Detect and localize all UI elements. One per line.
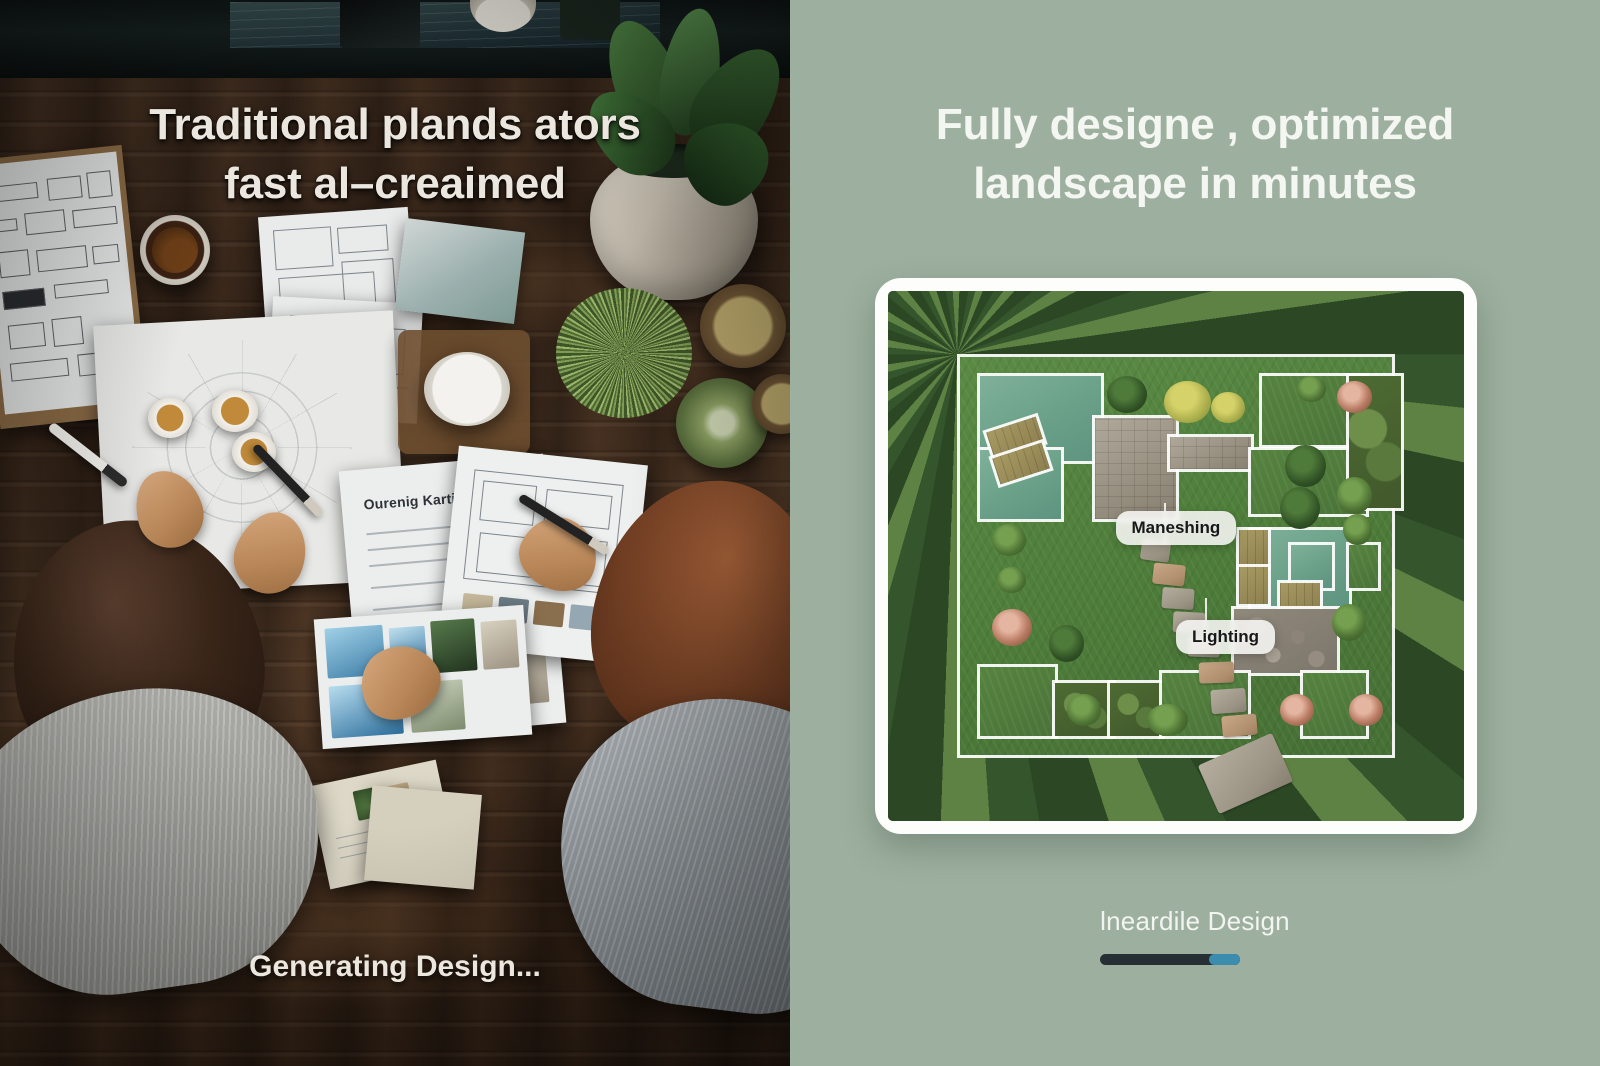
stepping-stone <box>1152 562 1186 586</box>
spec-box <box>24 209 66 235</box>
zone-deck[interactable] <box>1280 583 1320 610</box>
pin-maneshing[interactable]: Maneshing <box>1116 511 1237 545</box>
sketch-card <box>364 785 482 889</box>
stepping-stone <box>1199 661 1234 683</box>
design-name-label: Ɩneardile Design <box>790 906 1600 937</box>
right-headline: Fully designe , optimized landscape in m… <box>790 96 1600 213</box>
pin-lighting[interactable]: Lighting <box>1176 620 1275 654</box>
zone-bottom-left-lawn[interactable] <box>980 667 1055 736</box>
left-headline-line1: Traditional plands ators <box>149 100 641 149</box>
shrub <box>1147 704 1187 736</box>
zone-deck[interactable] <box>1239 530 1268 567</box>
left-headline: Traditional plands ators fast al–creaime… <box>0 96 790 213</box>
progress-bar-track[interactable] <box>1100 954 1240 965</box>
spec-box <box>0 218 18 232</box>
moodboard-photo <box>430 618 478 673</box>
right-headline-line2: landscape in minutes <box>973 159 1416 208</box>
dried-plant <box>700 284 786 368</box>
right-headline-line1: Fully designe , optimized <box>936 100 1454 149</box>
landscape-plan-card[interactable]: Maneshing Lighting <box>875 278 1477 834</box>
zone-structure-inner[interactable] <box>1291 545 1331 587</box>
specimen-tree <box>1285 445 1325 487</box>
floorplan-room <box>337 224 389 253</box>
flower-bed <box>1349 694 1384 726</box>
stepping-stone <box>1161 587 1194 610</box>
pin-maneshing-label: Maneshing <box>1132 518 1221 538</box>
stepping-stone <box>1210 687 1246 713</box>
ornamental-shrub <box>1164 381 1210 423</box>
shrub <box>1337 477 1372 514</box>
sample-dish <box>212 390 258 432</box>
progress-bar-fill <box>1209 954 1240 965</box>
comparison-stage: Ourenig Kartio <box>0 0 1600 1066</box>
spider-plant <box>556 288 692 418</box>
right-panel-ai: Fully designe , optimized landscape in m… <box>790 0 1600 1066</box>
spec-box <box>54 279 109 299</box>
zone-side-lawn[interactable] <box>1349 545 1378 587</box>
white-mug <box>424 352 510 426</box>
ledge-object <box>340 0 420 48</box>
left-headline-line2: fast al–creaimed <box>224 159 566 208</box>
spec-box <box>0 249 31 278</box>
shrub <box>1297 376 1326 403</box>
spec-box <box>51 316 84 347</box>
specimen-tree <box>1049 625 1084 662</box>
document-title: Ourenig Kartio <box>363 490 465 513</box>
aerial-garden-plan-image[interactable]: Maneshing Lighting <box>888 291 1464 821</box>
flower-bed <box>1337 381 1372 413</box>
spec-box <box>92 244 120 265</box>
shrub <box>1343 514 1372 546</box>
left-panel-traditional: Ourenig Kartio <box>0 0 790 1066</box>
spec-box <box>36 245 88 272</box>
spec-box <box>8 322 46 350</box>
spec-box <box>10 358 70 382</box>
ledge-plant <box>560 0 620 40</box>
material-swatch-card <box>395 218 525 324</box>
zone-patio-extension[interactable] <box>1170 437 1251 469</box>
generating-status-text: Generating Design... <box>0 950 790 984</box>
zone-deck[interactable] <box>1239 567 1268 604</box>
flower-bed <box>1280 694 1315 726</box>
shrub <box>1067 694 1102 726</box>
coffee-cup <box>140 215 210 285</box>
floorplan-room <box>273 226 334 270</box>
stepping-stone <box>1221 714 1257 738</box>
spec-box-filled <box>2 288 46 310</box>
ornamental-shrub <box>1107 376 1147 413</box>
plan-thumb <box>533 600 565 627</box>
shrub <box>997 567 1026 594</box>
shrub <box>1332 604 1367 641</box>
flower-bed <box>992 609 1032 646</box>
moodboard-photo <box>480 619 519 669</box>
shrub <box>992 524 1027 556</box>
pin-lighting-label: Lighting <box>1192 627 1259 647</box>
sample-dish <box>148 398 192 438</box>
